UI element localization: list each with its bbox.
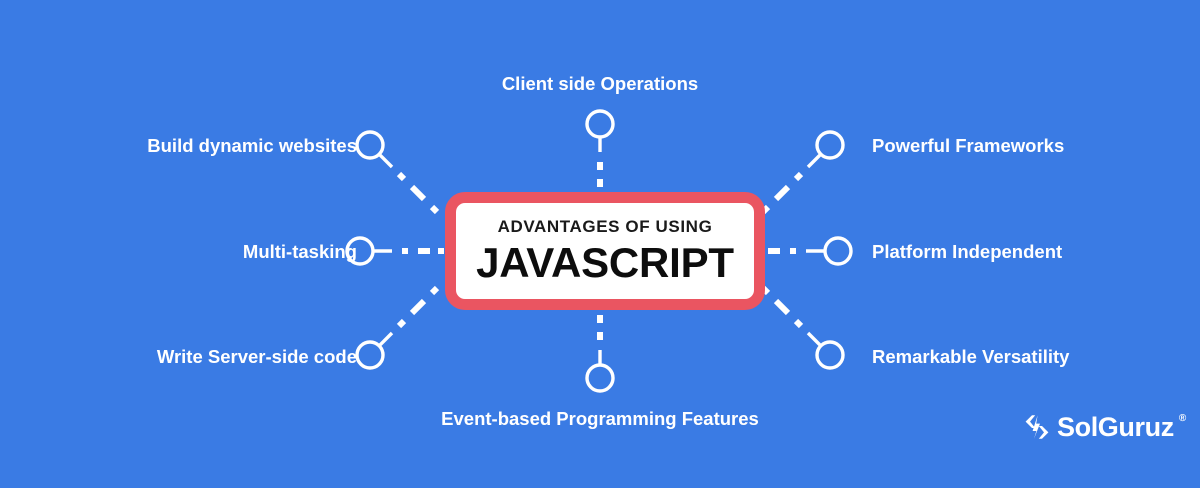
brand-trademark: ®	[1179, 414, 1186, 424]
center-kicker: ADVANTAGES OF USING	[498, 218, 713, 235]
spoke-label-platform-independent: Platform Independent	[872, 243, 1062, 262]
spoke-label-client-side-operations: Client side Operations	[0, 75, 1200, 94]
connector-event-based-programming	[587, 315, 613, 391]
connector-client-side-operations	[587, 111, 613, 187]
connector-remarkable-versatility	[763, 288, 843, 368]
connector-write-server-side-code	[357, 288, 437, 368]
connector-powerful-frameworks	[763, 132, 843, 212]
spoke-label-write-server-side-code: Write Server-side code	[157, 348, 357, 367]
spoke-label-powerful-frameworks: Powerful Frameworks	[872, 137, 1064, 156]
connector-platform-independent	[768, 238, 851, 264]
solguruz-chevron-mark-icon	[1022, 412, 1052, 442]
center-badge: ADVANTAGES OF USING JAVASCRIPT	[445, 192, 765, 310]
spoke-label-event-based-programming: Event-based Programming Features	[0, 410, 1200, 429]
spoke-label-multi-tasking: Multi-tasking	[243, 243, 357, 262]
brand-name: SolGuruz	[1057, 414, 1174, 441]
connector-build-dynamic-websites	[357, 132, 437, 212]
brand-logo[interactable]: SolGuruz ®	[1022, 412, 1186, 442]
spoke-label-remarkable-versatility: Remarkable Versatility	[872, 348, 1069, 367]
infographic-canvas: ADVANTAGES OF USING JAVASCRIPT Build dyn…	[0, 0, 1200, 488]
connector-multi-tasking	[347, 238, 444, 264]
center-title: JAVASCRIPT	[476, 242, 734, 284]
spoke-label-build-dynamic-websites: Build dynamic websites	[147, 137, 357, 156]
